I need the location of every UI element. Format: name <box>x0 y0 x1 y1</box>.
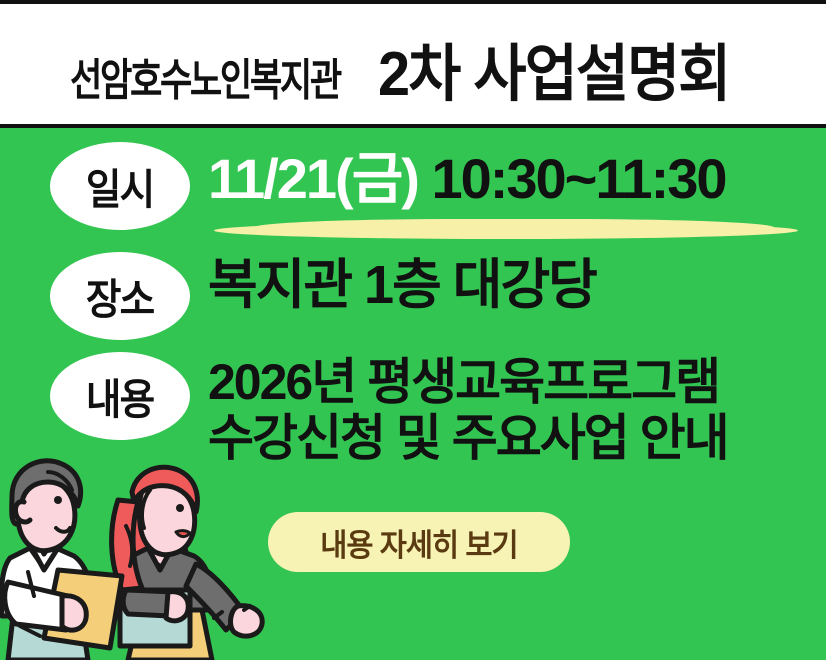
info-row-place-body: 복지관 1층 대강당 <box>208 252 596 313</box>
info-row-content: 내용 2026년 평생교육프로그램 수강신청 및 주요사업 안내 <box>50 352 728 466</box>
place-value: 복지관 1층 대강당 <box>208 252 596 313</box>
info-row-date: 일시 11/21(금) 10:30~11:30 <box>50 142 726 230</box>
label-pill-date-text: 일시 <box>86 156 153 217</box>
label-pill-content: 내용 <box>50 352 190 440</box>
label-pill-date: 일시 <box>50 142 190 230</box>
info-row-place: 장소 복지관 1층 대강당 <box>50 252 596 340</box>
page-title: 2차 사업설명회 <box>378 23 729 113</box>
label-pill-content-text: 내용 <box>86 366 153 427</box>
content-value-line-2: 수강신청 및 주요사업 안내 <box>208 410 728 466</box>
poster-root: 선암호수노인복지관 2차 사업설명회 일시 11/21(금) 10:30~11:… <box>0 0 826 660</box>
view-details-button-label: 내용 자세히 보기 <box>320 520 517 565</box>
label-pill-place-text: 장소 <box>86 266 153 327</box>
organization-name: 선암호수노인복지관 <box>70 44 340 108</box>
date-value: 11/21(금) <box>208 147 418 210</box>
view-details-button[interactable]: 내용 자세히 보기 <box>268 512 570 572</box>
highlight-underline <box>214 222 798 239</box>
info-row-content-body: 2026년 평생교육프로그램 수강신청 및 주요사업 안내 <box>208 352 728 466</box>
info-row-date-body: 11/21(금) 10:30~11:30 <box>208 142 726 207</box>
date-value-line: 11/21(금) 10:30~11:30 <box>208 142 726 207</box>
content-value-line-1: 2026년 평생교육프로그램 <box>208 354 728 410</box>
time-value: 10:30~11:30 <box>431 147 725 210</box>
header-inner: 선암호수노인복지관 2차 사업설명회 <box>70 23 755 113</box>
label-pill-place: 장소 <box>50 252 190 340</box>
header-band: 선암호수노인복지관 2차 사업설명회 <box>0 0 826 128</box>
two-people-walking-illustration <box>0 440 300 660</box>
